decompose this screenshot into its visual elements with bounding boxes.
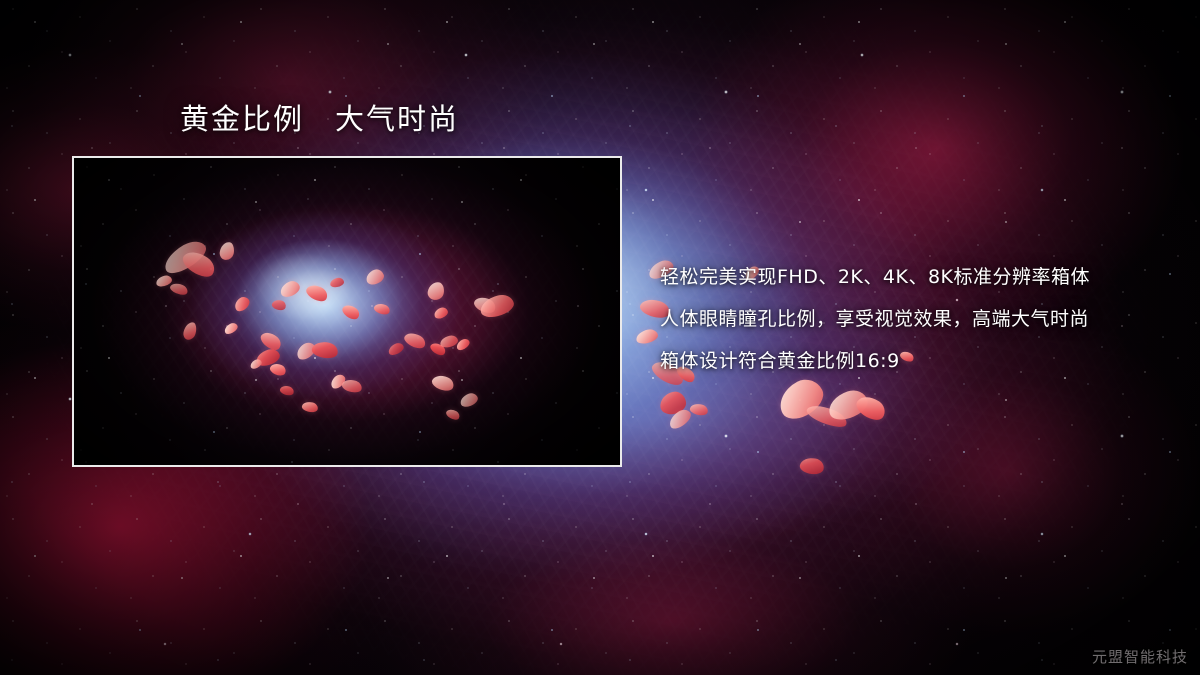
- petal-shape: [340, 302, 362, 322]
- petal-shape: [635, 328, 659, 345]
- petal-shape: [271, 298, 287, 312]
- petal-shape: [329, 277, 344, 288]
- body-text-block: 轻松完美实现FHD、2K、4K、8K标准分辨率箱体 人体眼睛瞳孔比例，享受视觉效…: [660, 256, 1180, 382]
- preview-frame[interactable]: [72, 156, 622, 467]
- petal-shape: [387, 341, 406, 357]
- petal-shape: [278, 279, 302, 299]
- petal-shape: [169, 281, 189, 297]
- petal-shape: [445, 407, 462, 422]
- petal-shape: [301, 400, 319, 414]
- petal-shape: [311, 339, 340, 360]
- petal-shape: [223, 321, 240, 336]
- petal-shape: [427, 281, 446, 302]
- watermark-brand: 元盟智能科技: [1092, 646, 1188, 667]
- petal-shape: [279, 384, 295, 397]
- petal-shape: [478, 292, 516, 320]
- petal-shape: [430, 372, 456, 393]
- body-line-3: 箱体设计符合黄金比例16:9: [660, 340, 1180, 382]
- petal-shape: [232, 294, 252, 313]
- petal-shape: [402, 330, 428, 352]
- petal-shape: [373, 302, 391, 317]
- petal-shape: [458, 391, 479, 408]
- petal-shape: [433, 306, 450, 320]
- petal-shape: [341, 377, 364, 394]
- petal-shape: [304, 281, 330, 304]
- petal-shape: [799, 456, 826, 477]
- page-title: 黄金比例 大气时尚: [180, 102, 459, 137]
- body-line-2: 人体眼睛瞳孔比例，享受视觉效果，高端大气时尚: [660, 298, 1180, 340]
- petal-shape: [364, 268, 385, 287]
- petal-shape: [182, 321, 198, 341]
- petal-shape: [689, 402, 709, 417]
- body-line-1: 轻松完美实现FHD、2K、4K、8K标准分辨率箱体: [660, 256, 1180, 298]
- petal-shape: [219, 241, 235, 261]
- slide-canvas: 黄金比例 大气时尚 轻松完美实现FHD、2K、4K、8K标准分辨率箱体 人体眼睛…: [0, 0, 1200, 675]
